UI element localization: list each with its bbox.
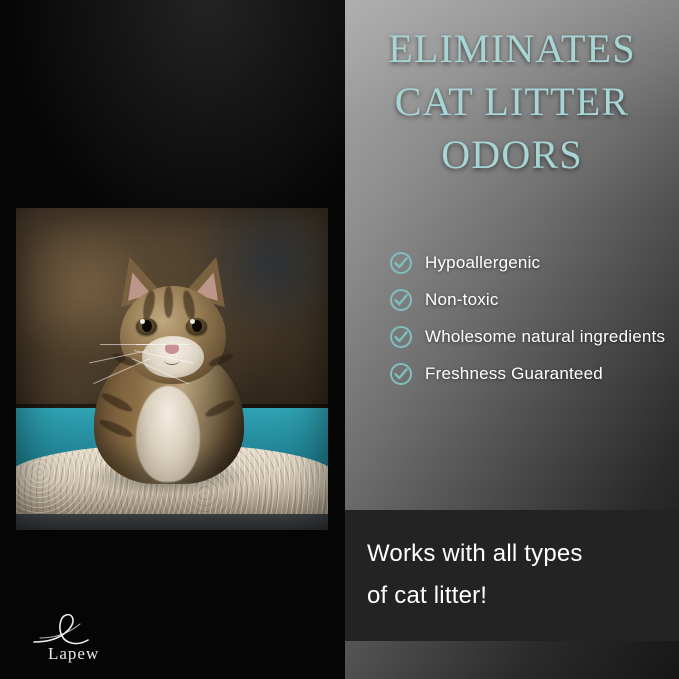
photo-scene — [16, 208, 328, 530]
banner-text: Works with all types of cat litter! — [367, 533, 663, 617]
logo-wordmark: Lapew — [48, 644, 99, 664]
check-circle-icon — [389, 362, 413, 386]
check-circle-icon — [389, 251, 413, 275]
kitten-whisker-r3 — [100, 344, 154, 345]
banner-line-2: of cat litter! — [367, 575, 663, 617]
banner-line-1: Works with all types — [367, 533, 663, 575]
checklist-label: Hypoallergenic — [425, 250, 540, 275]
kitten-in-litter-box-photo — [16, 208, 328, 530]
list-item: Freshness Guaranteed — [389, 361, 669, 386]
kitten-forehead-stripe-2 — [164, 286, 173, 318]
kitten — [16, 208, 328, 530]
bottom-banner: Works with all types of cat litter! — [345, 510, 679, 641]
kitten-right-eye-glint — [190, 319, 195, 324]
list-item: Non-toxic — [389, 287, 669, 312]
checklist-label: Non-toxic — [425, 287, 499, 312]
check-circle-icon — [389, 288, 413, 312]
list-item: Hypoallergenic — [389, 250, 669, 275]
kitten-left-eye-glint — [140, 319, 145, 324]
kitten-nose — [165, 344, 179, 354]
kitten-chest-fur — [136, 386, 200, 482]
product-ad-image: ELIMINATES CAT LITTER ODORS — [0, 0, 679, 679]
list-item: Wholesome natural ingredients — [389, 324, 669, 349]
headline: ELIMINATES CAT LITTER ODORS — [352, 22, 672, 181]
feature-checklist: Hypoallergenic Non-toxic Wholesome natur… — [389, 250, 669, 398]
checklist-label: Wholesome natural ingredients — [425, 324, 665, 349]
brand-logo: Lapew — [28, 608, 148, 668]
headline-line-3: ODORS — [352, 128, 672, 181]
headline-line-2: CAT LITTER — [352, 75, 672, 128]
checklist-label: Freshness Guaranteed — [425, 361, 603, 386]
headline-line-1: ELIMINATES — [352, 22, 672, 75]
check-circle-icon — [389, 325, 413, 349]
